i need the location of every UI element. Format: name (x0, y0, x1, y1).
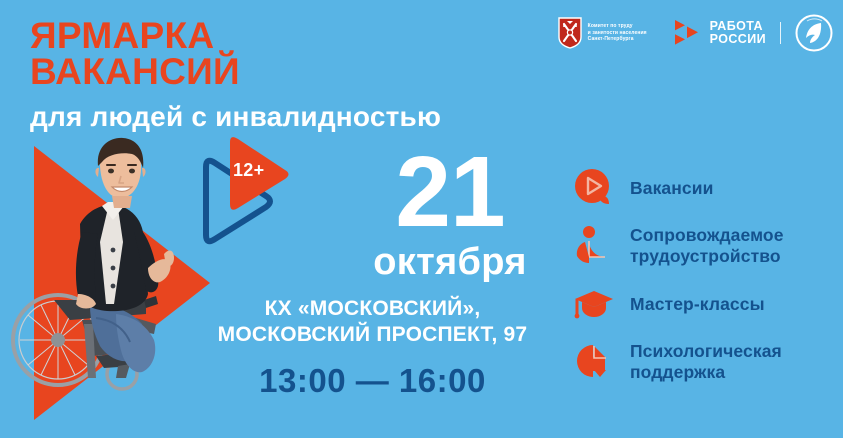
graduation-cap-icon (572, 282, 616, 326)
bird-circle-emblem-icon (795, 14, 833, 52)
feature-label: Психологическая поддержка (630, 341, 782, 383)
list-item: Мастер-классы (572, 276, 840, 332)
feature-label: Вакансии (630, 178, 713, 199)
saint-petersburg-coat-of-arms-icon (557, 17, 583, 49)
venue-line-2: МОСКОВСКИЙ ПРОСПЕКТ, 97 (185, 322, 560, 348)
support-speech-bubble-icon (572, 340, 616, 384)
logo-rabota-rossii-line-2: РОССИИ (710, 33, 766, 46)
feature-list: Вакансии Сопровождаемое трудоустройство (572, 160, 840, 392)
play-badge-group (178, 137, 306, 265)
list-item: Вакансии (572, 160, 840, 216)
logo-committee-line-3: Санкт-Петербурга (588, 36, 658, 42)
list-item: Психологическая поддержка (572, 334, 840, 390)
event-day: 21 (340, 146, 560, 238)
headline-subtitle: для людей с инвалидностью (30, 100, 570, 134)
logo-rabota-rossii-text: РАБОТА РОССИИ (710, 20, 766, 46)
logo-rabota-rossii: РАБОТА РОССИИ (674, 19, 766, 47)
logo-bar: Комитет по труду и занятости населения С… (557, 14, 833, 52)
wheelchair-accessibility-icon (572, 224, 616, 268)
page-title: ЯРМАРКА ВАКАНСИЙ для людей с инвалидност… (30, 18, 570, 134)
feature-label: Мастер-классы (630, 294, 765, 315)
list-item: Сопровождаемое трудоустройство (572, 218, 840, 274)
feature-label: Сопровождаемое трудоустройство (630, 225, 784, 267)
logo-divider (780, 22, 781, 44)
event-time: 13:00 — 16:00 (185, 361, 560, 401)
event-month: октября (340, 242, 560, 282)
play-badges (178, 137, 306, 265)
headline-line-2: ВАКАНСИЙ (30, 54, 570, 90)
logo-committee-text: Комитет по труду и занятости населения С… (588, 23, 658, 42)
feature-label-line-2: трудоустройство (630, 246, 781, 266)
headline-line-1: ЯРМАРКА (30, 18, 570, 54)
event-date: 21 октября (340, 146, 560, 282)
event-venue: КХ «МОСКОВСКИЙ», МОСКОВСКИЙ ПРОСПЕКТ, 97… (185, 296, 560, 401)
logo-committee: Комитет по труду и занятости населения С… (557, 17, 658, 49)
rabota-rossii-chevrons-icon (674, 19, 704, 47)
video-play-bubble-icon (572, 166, 616, 210)
feature-label-line-2: поддержка (630, 362, 725, 382)
feature-label-line-1: Психологическая (630, 341, 782, 361)
age-rating-badge: 12+ (233, 160, 264, 181)
event-poster: ЯРМАРКА ВАКАНСИЙ для людей с инвалидност… (0, 0, 843, 438)
venue-line-1: КХ «МОСКОВСКИЙ», (185, 296, 560, 322)
feature-label-line-1: Сопровождаемое (630, 225, 784, 245)
